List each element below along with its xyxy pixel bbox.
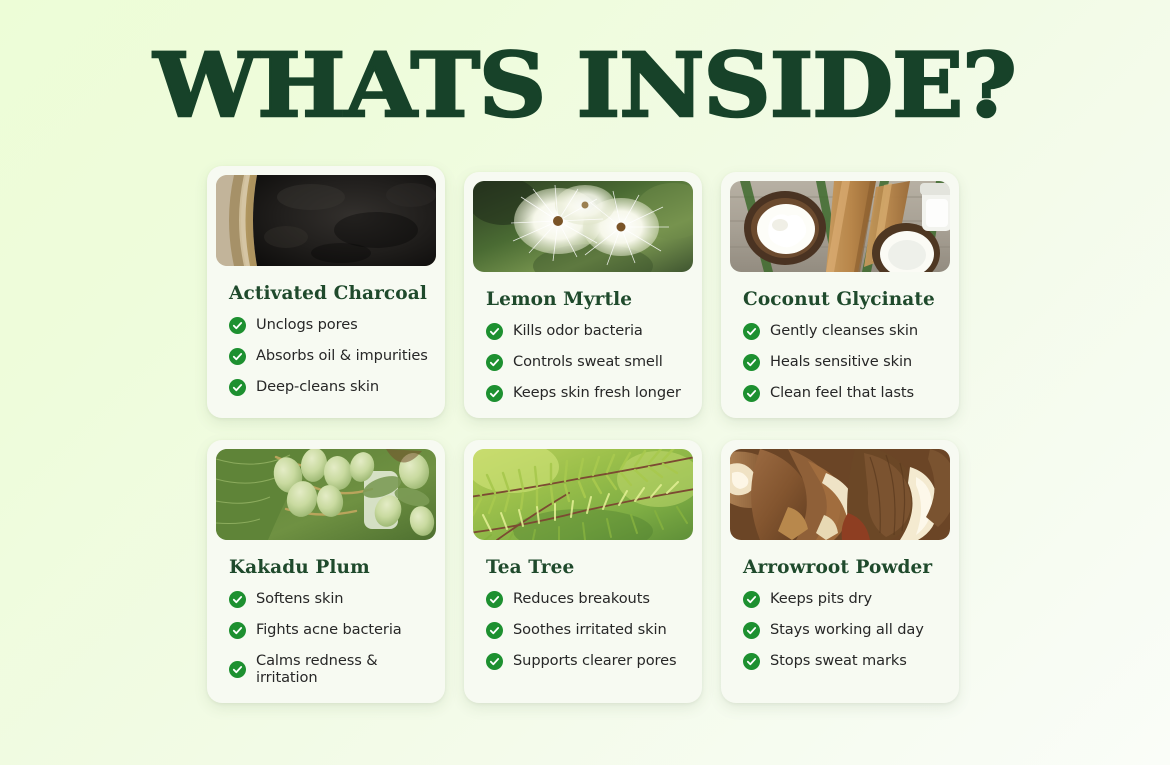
page-title: WHATS INSIDE? xyxy=(154,42,1016,128)
card-title: Activated Charcoal xyxy=(229,283,436,304)
ingredient-card-grid: Activated Charcoal Unclogs pores Absorbs… xyxy=(207,166,965,703)
check-circle-icon xyxy=(743,354,760,371)
benefit-item: Reduces breakouts xyxy=(486,591,693,608)
benefit-label: Stops sweat marks xyxy=(770,653,907,670)
benefit-item: Fights acne bacteria xyxy=(229,622,436,639)
benefit-label: Kills odor bacteria xyxy=(513,323,643,340)
tea-tree-photo xyxy=(473,449,693,540)
benefit-item: Controls sweat smell xyxy=(486,354,693,371)
benefit-label: Heals sensitive skin xyxy=(770,354,912,371)
benefit-item: Stays working all day xyxy=(743,622,950,639)
check-circle-icon xyxy=(486,385,503,402)
benefit-list: Unclogs pores Absorbs oil & impurities D… xyxy=(229,317,436,396)
card-title: Lemon Myrtle xyxy=(486,289,693,310)
card-title: Kakadu Plum xyxy=(229,557,436,578)
ingredient-card-tea-tree[interactable]: Tea Tree Reduces breakouts Soothes irrit… xyxy=(464,440,702,703)
check-circle-icon xyxy=(486,354,503,371)
check-circle-icon xyxy=(229,317,246,334)
benefit-label: Deep-cleans skin xyxy=(256,379,379,396)
ingredient-card-kakadu-plum[interactable]: Kakadu Plum Softens skin Fights acne bac… xyxy=(207,440,445,703)
kakadu-plum-photo xyxy=(216,449,436,540)
benefit-list: Keeps pits dry Stays working all day Sto… xyxy=(743,591,950,670)
benefit-label: Fights acne bacteria xyxy=(256,622,402,639)
check-circle-icon xyxy=(486,653,503,670)
benefit-item: Clean feel that lasts xyxy=(743,385,950,402)
benefit-label: Clean feel that lasts xyxy=(770,385,914,402)
benefit-label: Unclogs pores xyxy=(256,317,358,334)
benefit-item: Keeps pits dry xyxy=(743,591,950,608)
benefit-item: Unclogs pores xyxy=(229,317,436,334)
benefit-label: Reduces breakouts xyxy=(513,591,650,608)
check-circle-icon xyxy=(743,653,760,670)
benefit-item: Kills odor bacteria xyxy=(486,323,693,340)
check-circle-icon xyxy=(743,591,760,608)
benefit-label: Supports clearer pores xyxy=(513,653,676,670)
benefit-list: Kills odor bacteria Controls sweat smell… xyxy=(486,323,693,402)
benefit-item: Calms redness & irritation xyxy=(229,653,436,687)
benefit-label: Stays working all day xyxy=(770,622,924,639)
check-circle-icon xyxy=(229,591,246,608)
benefit-item: Supports clearer pores xyxy=(486,653,693,670)
benefit-item: Deep-cleans skin xyxy=(229,379,436,396)
benefit-item: Soothes irritated skin xyxy=(486,622,693,639)
benefit-label: Gently cleanses skin xyxy=(770,323,918,340)
card-title: Tea Tree xyxy=(486,557,693,578)
coconut-glycinate-photo xyxy=(730,181,950,272)
benefit-label: Keeps skin fresh longer xyxy=(513,385,681,402)
check-circle-icon xyxy=(229,622,246,639)
benefit-label: Keeps pits dry xyxy=(770,591,872,608)
benefit-label: Softens skin xyxy=(256,591,343,608)
card-title: Arrowroot Powder xyxy=(743,557,950,578)
benefit-item: Gently cleanses skin xyxy=(743,323,950,340)
check-circle-icon xyxy=(486,591,503,608)
benefit-item: Softens skin xyxy=(229,591,436,608)
benefit-label: Calms redness & irritation xyxy=(256,653,436,687)
benefit-list: Softens skin Fights acne bacteria Calms … xyxy=(229,591,436,687)
benefit-list: Gently cleanses skin Heals sensitive ski… xyxy=(743,323,950,402)
benefit-item: Absorbs oil & impurities xyxy=(229,348,436,365)
arrowroot-powder-photo xyxy=(730,449,950,540)
check-circle-icon xyxy=(743,622,760,639)
ingredient-card-activated-charcoal[interactable]: Activated Charcoal Unclogs pores Absorbs… xyxy=(207,166,445,418)
ingredient-card-arrowroot-powder[interactable]: Arrowroot Powder Keeps pits dry Stays wo… xyxy=(721,440,959,703)
benefit-list: Reduces breakouts Soothes irritated skin… xyxy=(486,591,693,670)
check-circle-icon xyxy=(743,385,760,402)
activated-charcoal-photo xyxy=(216,175,436,266)
ingredient-card-coconut-glycinate[interactable]: Coconut Glycinate Gently cleanses skin H… xyxy=(721,172,959,418)
benefit-item: Stops sweat marks xyxy=(743,653,950,670)
check-circle-icon xyxy=(229,348,246,365)
check-circle-icon xyxy=(743,323,760,340)
benefit-label: Absorbs oil & impurities xyxy=(256,348,428,365)
page-header: WHATS INSIDE? xyxy=(0,0,1170,128)
check-circle-icon xyxy=(229,661,246,678)
benefit-label: Controls sweat smell xyxy=(513,354,663,371)
lemon-myrtle-photo xyxy=(473,181,693,272)
benefit-item: Keeps skin fresh longer xyxy=(486,385,693,402)
benefit-item: Heals sensitive skin xyxy=(743,354,950,371)
check-circle-icon xyxy=(229,379,246,396)
check-circle-icon xyxy=(486,622,503,639)
card-title: Coconut Glycinate xyxy=(743,289,950,310)
ingredient-card-lemon-myrtle[interactable]: Lemon Myrtle Kills odor bacteria Control… xyxy=(464,172,702,418)
benefit-label: Soothes irritated skin xyxy=(513,622,667,639)
check-circle-icon xyxy=(486,323,503,340)
